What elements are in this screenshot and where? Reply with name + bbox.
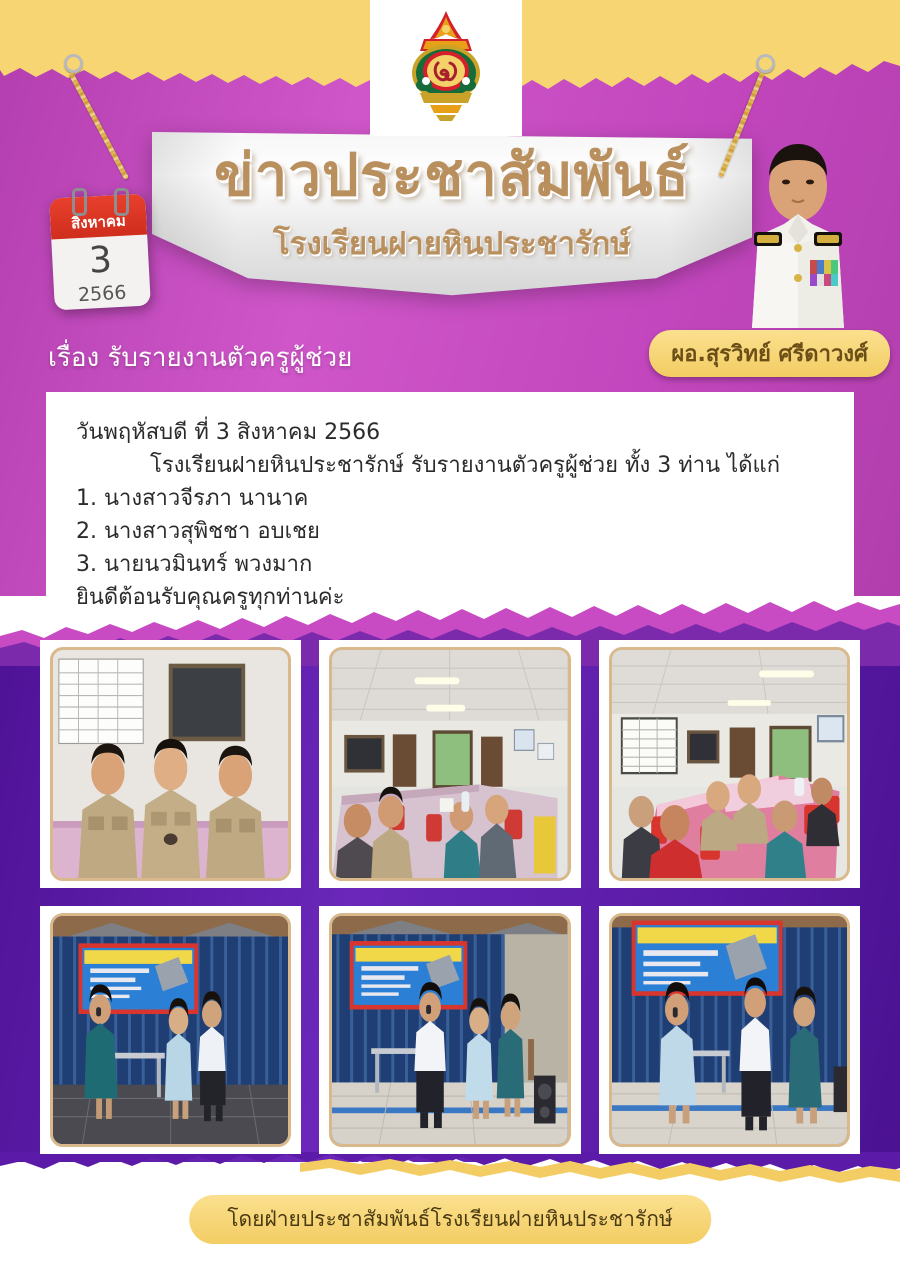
subject-line: เรื่อง รับรายงานตัวครูผู้ช่วย — [48, 337, 352, 378]
calendar-ring-icon — [72, 188, 87, 216]
banner-chain-left — [64, 54, 83, 193]
banner-subtitle: โรงเรียนฝายหินประชารักษ์ — [152, 218, 752, 268]
ministry-emblem-container — [370, 0, 522, 136]
photo-meeting-room-wide — [329, 647, 570, 881]
footer-credit-badge: โดยฝ่ายประชาสัมพันธ์โรงเรียนฝายหินประชาร… — [189, 1195, 711, 1244]
calendar-day: 3 — [52, 241, 150, 282]
calendar-ring-icon — [114, 188, 129, 216]
photo-auditorium-introduction-two — [329, 913, 570, 1147]
chain-ring-icon — [64, 54, 83, 73]
calendar-body: สิงหาคม 3 2566 — [49, 194, 151, 311]
thai-ministry-of-education-emblem — [400, 9, 492, 127]
body-line-intro: โรงเรียนฝายหินประชารักษ์ รับรายงานตัวครู… — [76, 451, 824, 480]
body-item-2: 2. นางสาวสุพิชชา อบเชย — [76, 517, 824, 546]
announcement-poster: ข่าวประชาสัมพันธ์ โรงเรียนฝายหินประชารัก… — [0, 0, 900, 1272]
photo-gallery — [40, 640, 860, 1154]
body-item-1: 1. นางสาวจีรภา นานาค — [76, 484, 824, 513]
calendar-rings — [52, 188, 148, 208]
photo-auditorium-introduction-one — [50, 913, 291, 1147]
calendar-year: 2566 — [54, 280, 151, 307]
photo-card — [319, 640, 580, 888]
headline-banner: ข่าวประชาสัมพันธ์ โรงเรียนฝายหินประชารัก… — [152, 132, 752, 302]
photo-auditorium-introduction-three — [609, 913, 850, 1147]
school-director-portrait — [724, 128, 872, 328]
body-line-date: วันพฤหัสบดี ที่ 3 สิงหาคม 2566 — [76, 418, 824, 447]
photo-three-teachers-seated — [50, 647, 291, 881]
body-closing: ยินดีต้อนรับคุณครูทุกท่านค่ะ — [76, 583, 824, 612]
director-name-badge: ผอ.สุรวิทย์ ศรีดาวงศ์ — [649, 330, 890, 377]
calendar-widget: สิงหาคม 3 2566 — [52, 196, 148, 308]
photo-card — [319, 906, 580, 1154]
announcement-body-card: วันพฤหัสบดี ที่ 3 สิงหาคม 2566 โรงเรียนฝ… — [46, 392, 854, 600]
photo-meeting-room-pink-table — [609, 647, 850, 881]
banner-title: ข่าวประชาสัมพันธ์ — [152, 146, 752, 204]
photo-card — [599, 906, 860, 1154]
photo-card — [40, 906, 301, 1154]
photo-card — [40, 640, 301, 888]
chain-ring-icon — [756, 54, 775, 73]
body-item-3: 3. นายนวมินทร์ พวงมาก — [76, 550, 824, 579]
photo-card — [599, 640, 860, 888]
banner-chain-right — [756, 54, 775, 185]
